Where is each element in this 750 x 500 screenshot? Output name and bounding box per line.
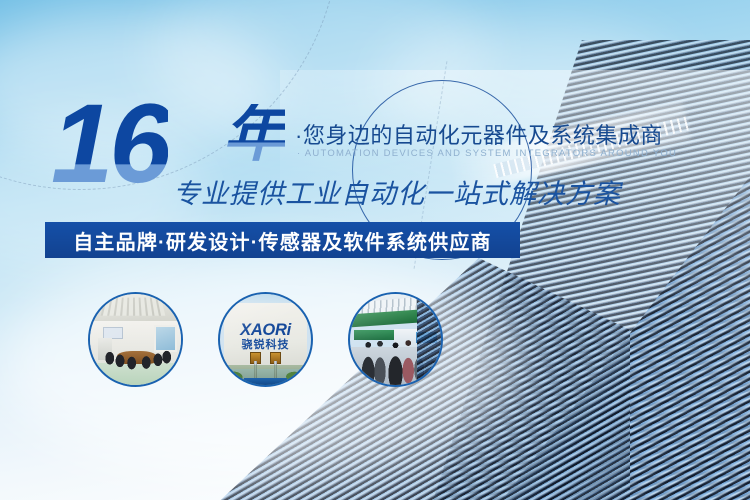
photo-circle-group: XAORi 骁锐科技 bbox=[88, 292, 488, 392]
highlight-bar-text: 自主品牌·研发设计·传感器及软件系统供应商 bbox=[73, 226, 492, 255]
photo-circle-office[interactable] bbox=[88, 292, 183, 387]
photo-circle-exhibition[interactable] bbox=[348, 292, 443, 387]
promotional-banner: 16 年 ·您身边的自动化元器件及系统集成商 · AUTOMATION DEVI… bbox=[0, 0, 750, 500]
headline-block: 16 年 ·您身边的自动化元器件及系统集成商 · AUTOMATION DEVI… bbox=[45, 96, 585, 206]
tagline-english: · AUTOMATION DEVICES AND SYSTEM INTEGRAT… bbox=[297, 148, 677, 159]
solution-slogan: 专业提供工业自动化一站式解决方案 bbox=[173, 172, 621, 211]
years-unit-label: 年 bbox=[223, 104, 285, 166]
years-number: 16 bbox=[51, 88, 168, 200]
tagline-chinese: ·您身边的自动化元器件及系统集成商 bbox=[295, 118, 663, 150]
photo-circle-company-sign[interactable]: XAORi 骁锐科技 bbox=[218, 292, 313, 387]
brand-logo-cn: 骁锐科技 bbox=[220, 336, 311, 352]
highlight-bar: 自主品牌·研发设计·传感器及软件系统供应商 bbox=[45, 222, 520, 258]
